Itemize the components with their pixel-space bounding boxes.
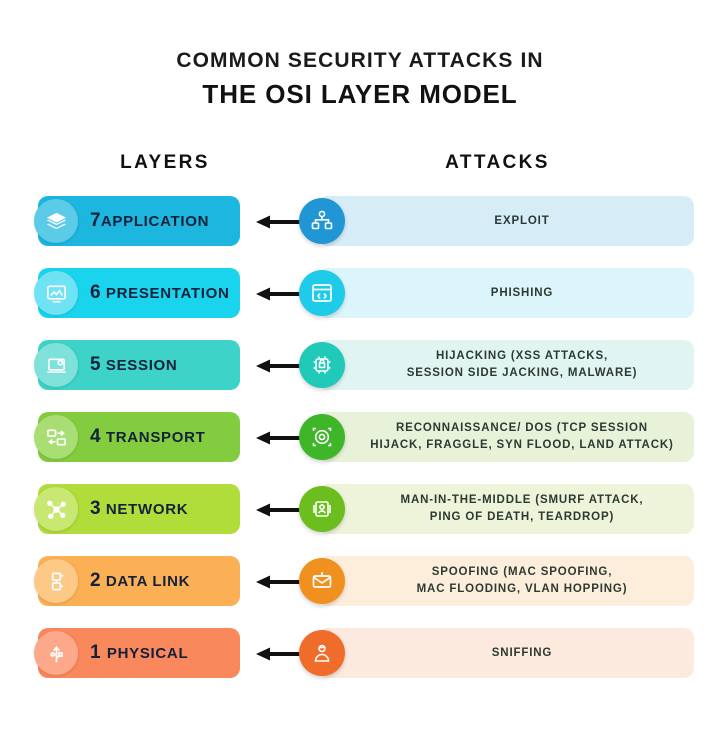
arrow-left-icon [256,575,304,589]
attack-pill-network[interactable]: MAN-IN-THE-MIDDLE (SMURF ATTACK, PING OF… [318,484,694,534]
layer-name: NETWORK [106,501,188,518]
ethernet-cable-icon [34,559,78,603]
layer-number: 3 [90,498,101,519]
layer-number: 6 [90,282,101,303]
attack-pill-transport[interactable]: RECONNAISSANCE/ DOS (TCP SESSION HIJACK,… [318,412,694,462]
server-transfer-icon [34,415,78,459]
laptop-settings-icon [34,343,78,387]
browser-code-icon [299,270,345,316]
title-block: COMMON SECURITY ATTACKS IN THE OSI LAYER… [0,48,720,112]
layer-number: 4 [90,426,101,447]
attack-pill-application[interactable]: EXPLOIT [318,196,694,246]
layer-name: SESSION [106,357,178,374]
attack-pill-data-link[interactable]: SPOOFING (MAC SPOOFING, MAC FLOODING, VL… [318,556,694,606]
arrow-left-icon [256,647,304,661]
attack-text: MAN-IN-THE-MIDDLE (SMURF ATTACK, PING OF… [401,492,644,525]
layer-number: 5 [90,354,101,375]
attack-pill-session[interactable]: HIJACKING (XSS ATTACKS, SESSION SIDE JAC… [318,340,694,390]
arrow-left-icon [256,215,304,229]
osi-row-application: 7APPLICATION EXPLOIT [0,193,720,265]
osi-rows: 7APPLICATION EXPLOIT 6PRESENTATION [0,193,720,697]
arrow-left-icon [256,431,304,445]
attack-pill-physical[interactable]: SNIFFING [318,628,694,678]
arrow-left-icon [256,287,304,301]
network-hub-icon [34,487,78,531]
spy-person-icon [299,630,345,676]
person-intercept-icon [299,486,345,532]
attack-text: PHISHING [491,285,553,302]
osi-row-session: 5SESSION HIJACKING (XSS ATTACKS, SESSION… [0,337,720,409]
osi-row-physical: 1PHYSICAL SNIFFING [0,625,720,697]
envelope-alert-icon [299,558,345,604]
layer-name: DATA LINK [106,573,190,590]
attack-text: HIJACKING (XSS ATTACKS, SESSION SIDE JAC… [407,348,638,381]
page-title: THE OSI LAYER MODEL [0,78,720,112]
network-nodes-icon [299,198,345,244]
attack-text: RECONNAISSANCE/ DOS (TCP SESSION HIJACK,… [370,420,673,453]
radar-scan-icon [299,414,345,460]
layer-name: TRANSPORT [106,429,206,446]
layer-name: PHYSICAL [107,645,188,662]
attack-pill-presentation[interactable]: PHISHING [318,268,694,318]
column-header-layers: LAYERS [70,152,260,174]
osi-row-transport: 4TRANSPORT RECONNAISSANCE/ DOS (TCP SESS… [0,409,720,481]
layer-number: 7 [90,210,101,231]
image-chart-icon [34,271,78,315]
attack-text: EXPLOIT [494,213,549,230]
column-header-attacks: ATTACKS [345,152,650,174]
attack-text: SNIFFING [492,645,552,662]
layer-name: APPLICATION [101,213,209,230]
chip-lock-icon [299,342,345,388]
layer-name: PRESENTATION [106,285,230,302]
title-line-1: COMMON SECURITY ATTACKS IN [0,48,720,74]
attack-text: SPOOFING (MAC SPOOFING, MAC FLOODING, VL… [417,564,628,597]
layer-number: 2 [90,570,101,591]
stacked-layers-icon [34,199,78,243]
layer-number: 1 [90,642,101,663]
arrow-left-icon [256,359,304,373]
usb-plug-icon [34,631,78,675]
osi-row-network: 3NETWORK MAN-IN-THE-MIDDLE (SMURF ATTACK… [0,481,720,553]
arrow-left-icon [256,503,304,517]
osi-row-data-link: 2DATA LINK SPOOFING (MAC SPOOFING, MAC F… [0,553,720,625]
osi-row-presentation: 6PRESENTATION PHISHING [0,265,720,337]
